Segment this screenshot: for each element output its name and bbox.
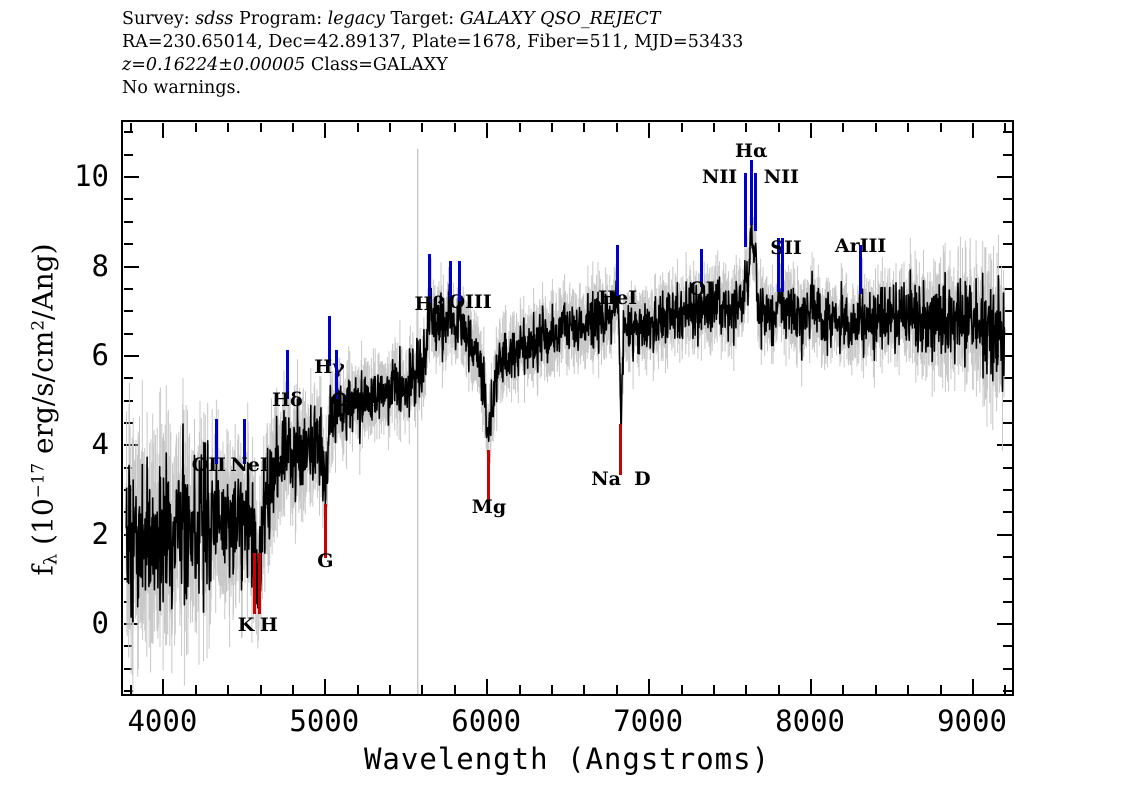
x-tick-label: 8000 xyxy=(775,704,845,738)
line-label-k: K xyxy=(238,614,255,636)
line-label-oii: OII xyxy=(192,454,226,476)
line-marker-sii xyxy=(781,238,784,292)
line-marker-nii xyxy=(754,173,757,231)
line-label-g: G xyxy=(317,550,333,572)
plot-clip-area: OIINeIIIHδHγOIIIHβOIIIHeIOINIIHαNIISIIAr… xyxy=(123,122,1012,694)
y-tick-label: 4 xyxy=(49,427,109,461)
y-tick-label: 6 xyxy=(49,338,109,372)
line-marker-h xyxy=(750,160,753,225)
x-tick-label: 5000 xyxy=(289,704,359,738)
x-tick-label: 6000 xyxy=(451,704,521,738)
line-label-sii: SII xyxy=(770,237,802,259)
y-tick-label: 2 xyxy=(49,517,109,551)
line-label-nad: Na D xyxy=(591,468,650,490)
line-marker-k xyxy=(253,553,256,613)
plot-frame: OIINeIIIHδHγOIIIHβOIIIHeIOINIIHαNIISIIAr… xyxy=(121,120,1014,696)
x-tick-label: 9000 xyxy=(937,704,1007,738)
spectrum-figure: fλ (10−17 erg/s/cm2/Ang) Wavelength (Ang… xyxy=(0,0,1134,810)
error-band xyxy=(126,195,1004,695)
line-label-ariii: ArIII xyxy=(835,235,886,257)
line-label-oiii: OIII xyxy=(448,291,491,313)
line-marker-h xyxy=(258,553,261,613)
line-label-oi: OI xyxy=(689,278,714,300)
line-label-oiii: OIII xyxy=(331,389,374,411)
y-tick-label: 8 xyxy=(49,249,109,283)
line-label-h: H xyxy=(260,614,278,636)
line-label-h: Hγ xyxy=(314,356,345,378)
line-label-neiii: NeIII xyxy=(230,454,286,476)
line-label-h: Hβ xyxy=(415,293,446,315)
y-tick-label: 10 xyxy=(49,159,109,193)
line-label-hei: HeI xyxy=(598,287,637,309)
line-marker-nii xyxy=(744,173,747,247)
line-label-nii: NII xyxy=(702,166,737,188)
line-label-h: Hα xyxy=(735,140,768,162)
x-axis-label: Wavelength (Angstroms) xyxy=(0,742,1134,776)
x-tick-label: 7000 xyxy=(613,704,683,738)
line-label-nii: NII xyxy=(764,166,799,188)
line-label-mg: Mg xyxy=(472,496,506,518)
line-label-h: Hδ xyxy=(272,389,303,411)
y-tick-label: 0 xyxy=(49,606,109,640)
line-marker-oiii xyxy=(458,261,461,301)
x-tick-label: 4000 xyxy=(127,704,197,738)
